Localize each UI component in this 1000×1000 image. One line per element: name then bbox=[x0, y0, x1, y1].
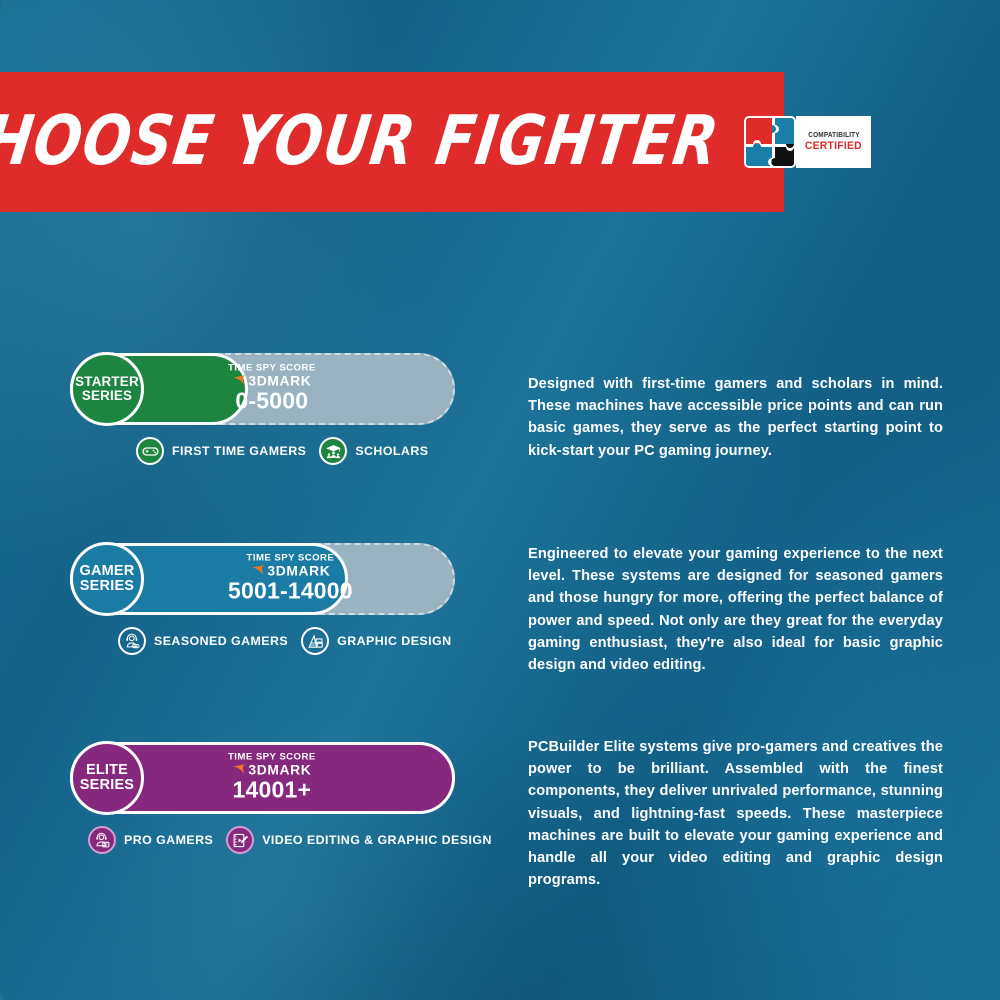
3dmark-logo: 3DMARK bbox=[251, 564, 330, 578]
time-spy-score-label: TIME SPY SCORE bbox=[247, 554, 335, 564]
page-title: CHOOSE YOUR FIGHTER bbox=[0, 108, 723, 176]
headset-gamer-icon bbox=[118, 627, 146, 655]
tag-pro-gamers[interactable]: PRO GAMERS bbox=[88, 826, 213, 854]
score-value-elite: 14001+ bbox=[233, 778, 312, 804]
3dmark-wordmark: 3DMARK bbox=[249, 763, 312, 777]
series-badge-line2: SERIES bbox=[80, 579, 134, 594]
series-badge-line1: STARTER bbox=[75, 375, 139, 389]
tag-label: PRO GAMERS bbox=[124, 833, 213, 847]
tag-label: VIDEO EDITING & GRAPHIC DESIGN bbox=[262, 833, 492, 847]
tag-video-editing-graphic-design[interactable]: VIDEO EDITING & GRAPHIC DESIGN bbox=[226, 826, 492, 854]
gamepad-icon bbox=[136, 437, 164, 465]
tier-visual-starter: STARTER SERIES TIME SPY SCORE 3DMARK 0-5… bbox=[70, 353, 455, 425]
score-value-starter: 0-5000 bbox=[235, 389, 308, 415]
score-block-gamer: TIME SPY SCORE 3DMARK 5001-14000 bbox=[228, 554, 353, 605]
score-value-gamer: 5001-14000 bbox=[228, 579, 353, 605]
tag-seasoned-gamers[interactable]: SEASONED GAMERS bbox=[118, 627, 288, 655]
tag-row-elite: PRO GAMERS VIDEO ED bbox=[88, 826, 492, 854]
time-spy-score-label: TIME SPY SCORE bbox=[228, 753, 316, 763]
choose-your-fighter-infographic: CHOOSE YOUR FIGHTER COMPATIBILITY CERTIF… bbox=[0, 0, 1000, 1000]
puzzle-piece-icon bbox=[744, 116, 796, 168]
tag-first-time-gamers[interactable]: FIRST TIME GAMERS bbox=[136, 437, 306, 465]
tag-label: GRAPHIC DESIGN bbox=[337, 634, 451, 648]
tag-label: FIRST TIME GAMERS bbox=[172, 444, 306, 458]
series-badge-line1: GAMER bbox=[80, 564, 135, 579]
certified-text-block: COMPATIBILITY CERTIFIED bbox=[796, 116, 871, 168]
3dmark-logo: 3DMARK bbox=[232, 374, 311, 388]
graphic-design-icon bbox=[301, 627, 329, 655]
3dmark-wordmark: 3DMARK bbox=[267, 564, 330, 578]
score-block-elite: TIME SPY SCORE 3DMARK 14001+ bbox=[228, 753, 316, 804]
compatibility-certified-badge: COMPATIBILITY CERTIFIED bbox=[744, 116, 871, 168]
graduation-cap-icon bbox=[319, 437, 347, 465]
series-badge-line1: ELITE bbox=[86, 763, 128, 778]
score-track-elite: ELITE SERIES TIME SPY SCORE 3DMARK 14001… bbox=[70, 742, 455, 814]
score-block-starter: TIME SPY SCORE 3DMARK 0-5000 bbox=[228, 364, 316, 415]
3dmark-swoosh-icon bbox=[251, 564, 266, 577]
score-track-starter: STARTER SERIES TIME SPY SCORE 3DMARK 0-5… bbox=[70, 353, 455, 425]
tier-row-starter: STARTER SERIES TIME SPY SCORE 3DMARK 0-5… bbox=[70, 353, 950, 473]
time-spy-score-label: TIME SPY SCORE bbox=[228, 364, 316, 374]
tier-description-gamer: Engineered to elevate your gaming experi… bbox=[528, 543, 943, 676]
tier-row-elite: ELITE SERIES TIME SPY SCORE 3DMARK 14001… bbox=[70, 742, 950, 872]
tag-label: SCHOLARS bbox=[355, 444, 428, 458]
3dmark-wordmark: 3DMARK bbox=[249, 374, 312, 388]
tier-row-gamer: GAMER SERIES TIME SPY SCORE 3DMARK 5001-… bbox=[70, 543, 950, 673]
tag-label: SEASONED GAMERS bbox=[154, 634, 288, 648]
tier-visual-elite: ELITE SERIES TIME SPY SCORE 3DMARK 14001… bbox=[70, 742, 455, 814]
3dmark-swoosh-icon bbox=[232, 763, 247, 776]
tag-row-starter: FIRST TIME GAMERS bbox=[136, 437, 428, 465]
cert-certified-label: CERTIFIED bbox=[805, 141, 862, 152]
pro-gamer-icon bbox=[88, 826, 116, 854]
tag-row-gamer: SEASONED GAMERS GRAPHIC DESIGN bbox=[118, 627, 452, 655]
series-badge-line2: SERIES bbox=[82, 389, 132, 403]
score-track-gamer: GAMER SERIES TIME SPY SCORE 3DMARK 5001-… bbox=[70, 543, 455, 615]
tag-scholars[interactable]: SCHOLARS bbox=[319, 437, 428, 465]
3dmark-swoosh-icon bbox=[232, 374, 247, 387]
series-badge-starter[interactable]: STARTER SERIES bbox=[70, 352, 144, 426]
3dmark-logo: 3DMARK bbox=[232, 763, 311, 777]
video-editing-icon bbox=[226, 826, 254, 854]
tier-visual-gamer: GAMER SERIES TIME SPY SCORE 3DMARK 5001-… bbox=[70, 543, 455, 615]
series-badge-elite[interactable]: ELITE SERIES bbox=[70, 741, 144, 815]
cert-compatibility-label: COMPATIBILITY bbox=[808, 132, 860, 139]
tier-description-elite: PCBuilder Elite systems give pro-gamers … bbox=[528, 736, 943, 891]
header-banner: CHOOSE YOUR FIGHTER COMPATIBILITY CERTIF… bbox=[0, 72, 784, 212]
tier-description-starter: Designed with first-time gamers and scho… bbox=[528, 373, 943, 462]
series-badge-line2: SERIES bbox=[80, 778, 134, 793]
series-badge-gamer[interactable]: GAMER SERIES bbox=[70, 542, 144, 616]
tag-graphic-design[interactable]: GRAPHIC DESIGN bbox=[301, 627, 451, 655]
